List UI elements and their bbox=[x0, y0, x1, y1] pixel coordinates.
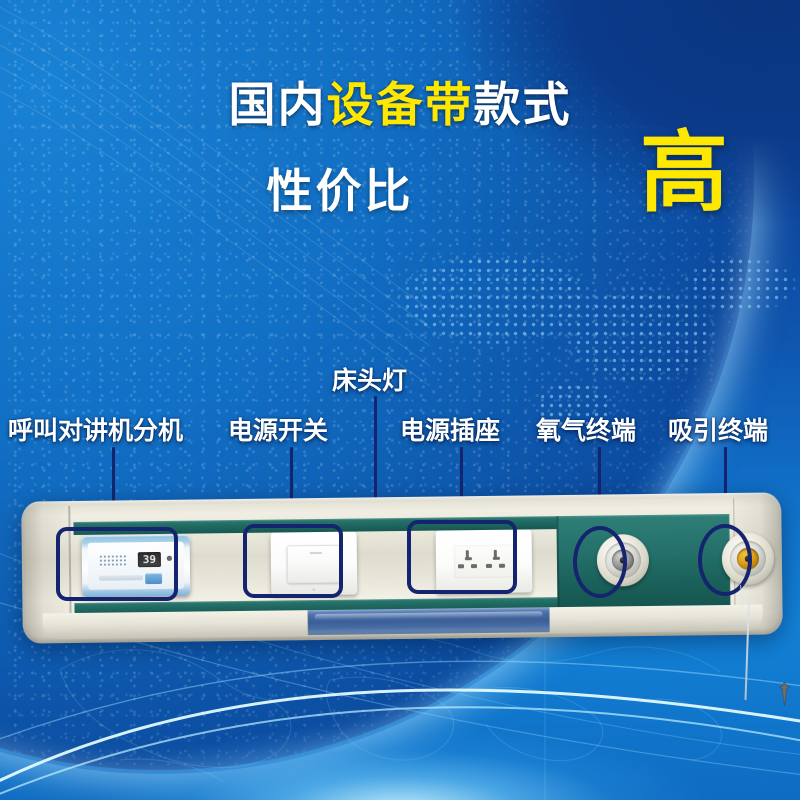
highlight-box-socket bbox=[407, 520, 517, 594]
headline-part-3: 款式 bbox=[474, 78, 572, 133]
headline-part-2: 设备带 bbox=[327, 78, 474, 133]
highlight-box-intercom bbox=[56, 527, 178, 601]
leader-line-intercom bbox=[112, 447, 115, 507]
callout-label-oxygen: 氧气终端 bbox=[536, 411, 636, 447]
headline-block: 国内设备带款式 性价比 高 bbox=[0, 78, 800, 239]
highlight-box-suction bbox=[698, 524, 752, 596]
callout-label-socket: 电源插座 bbox=[400, 411, 500, 447]
headline-part-1: 国内 bbox=[229, 78, 327, 133]
headline-row-2: 性价比 高 bbox=[0, 147, 800, 239]
promo-stage: 国内设备带款式 性价比 高 呼叫对讲机分机 电源开关 床头灯 电源插座 氧气终端… bbox=[0, 0, 800, 800]
callout-label-suction: 吸引终端 bbox=[668, 411, 768, 447]
highlight-box-switch bbox=[243, 524, 343, 598]
headline-emphasis: 高 bbox=[640, 129, 728, 217]
callout-label-switch: 电源开关 bbox=[228, 411, 328, 447]
highlight-box-oxygen bbox=[573, 526, 627, 598]
callout-label-bed-lamp: 床头灯 bbox=[332, 361, 407, 397]
cord-connector-icon bbox=[779, 682, 790, 706]
callout-label-intercom: 呼叫对讲机分机 bbox=[8, 411, 183, 447]
